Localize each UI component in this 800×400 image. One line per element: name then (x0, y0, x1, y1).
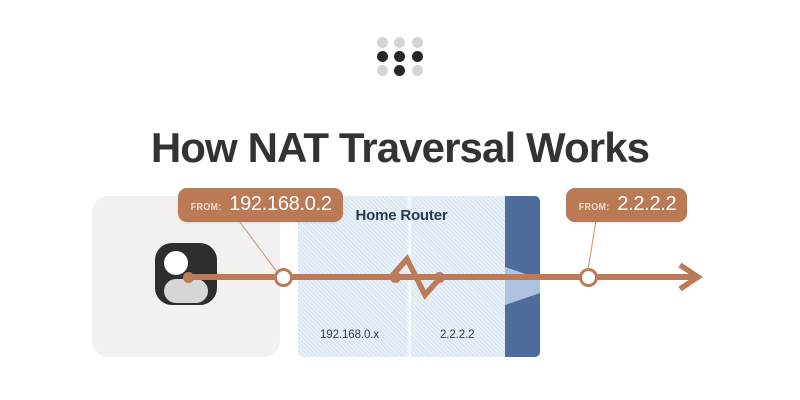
nat-traversal-diagram: Home Router 192.168.0.x 2.2.2.2 (0, 0, 800, 400)
connection-origin-dot (183, 272, 194, 283)
source-address-badge-wan[interactable]: FROM: 2.2.2.2 (566, 188, 687, 222)
wan-address-label: 2.2.2.2 (440, 329, 474, 341)
avatar-head-shape (164, 251, 188, 275)
diagram-canvas: How NAT Traversal Works Home Router 192.… (0, 0, 800, 400)
source-address-badge-lan[interactable]: FROM: 192.168.0.2 (178, 188, 343, 222)
packet-marker-lan (274, 268, 293, 287)
firewall-pinhole-icon (505, 249, 540, 323)
badge-prefix-label: FROM: (579, 202, 610, 213)
packet-marker-wan (579, 268, 598, 287)
nat-translation-zigzag-icon (388, 253, 444, 301)
badge-ip-value: 2.2.2.2 (617, 193, 676, 216)
badge-prefix-label: FROM: (191, 202, 222, 213)
lan-subnet-label: 192.168.0.x (320, 329, 379, 341)
badge-ip-value: 192.168.0.2 (229, 193, 331, 216)
arrow-head-icon (676, 261, 704, 293)
